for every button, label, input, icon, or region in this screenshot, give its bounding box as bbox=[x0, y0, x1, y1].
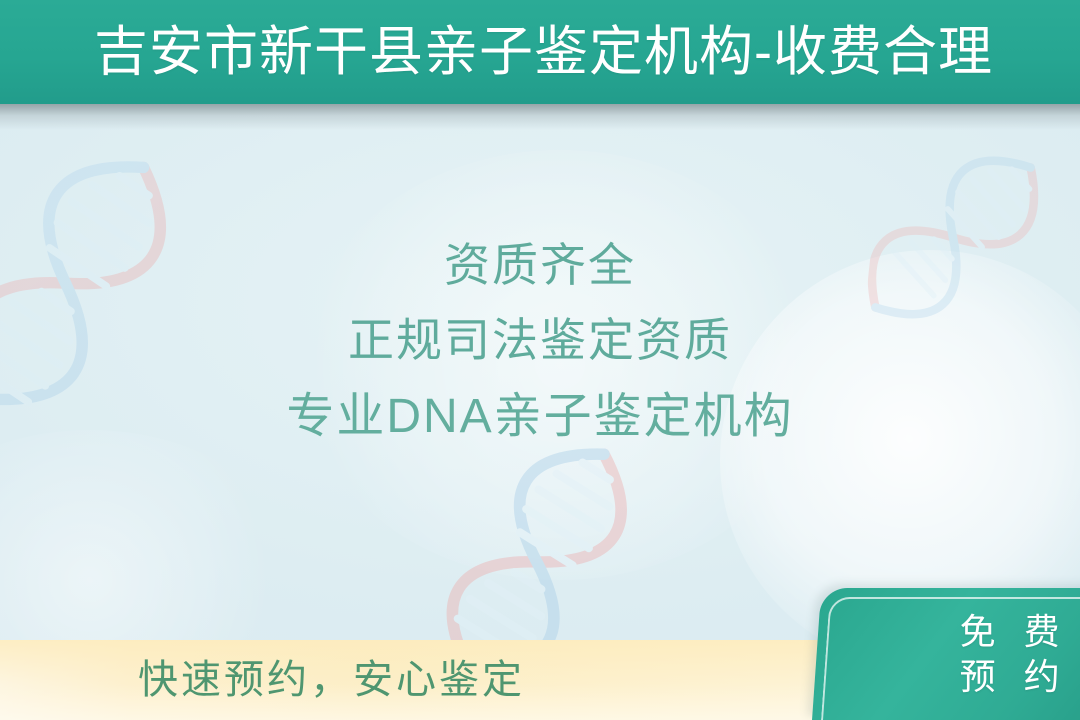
promo-poster: 吉安市新干县亲子鉴定机构-收费合理 资质齐全 正规司法鉴定资质 专业DNA亲子鉴… bbox=[0, 0, 1080, 720]
cta-line-2: 预 约 bbox=[951, 654, 1069, 699]
headline-line-3: 专业DNA亲子鉴定机构 bbox=[0, 386, 1080, 447]
cta-line-1: 免 费 bbox=[951, 609, 1069, 654]
cta-label-stack: 免 费 预 约 bbox=[817, 588, 1080, 720]
free-booking-button[interactable]: 免 费 预 约 bbox=[812, 588, 1080, 720]
headline-block: 资质齐全 正规司法鉴定资质 专业DNA亲子鉴定机构 bbox=[0, 236, 1080, 447]
header-bar: 吉安市新干县亲子鉴定机构-收费合理 bbox=[0, 0, 1080, 104]
page-title: 吉安市新干县亲子鉴定机构-收费合理 bbox=[94, 0, 993, 104]
banner-tagline: 快速预约，安心鉴定 bbox=[138, 640, 525, 720]
headline-line-2: 正规司法鉴定资质 bbox=[0, 311, 1080, 370]
headline-line-1: 资质齐全 bbox=[0, 236, 1080, 295]
header-drop-shadow bbox=[0, 104, 1080, 130]
